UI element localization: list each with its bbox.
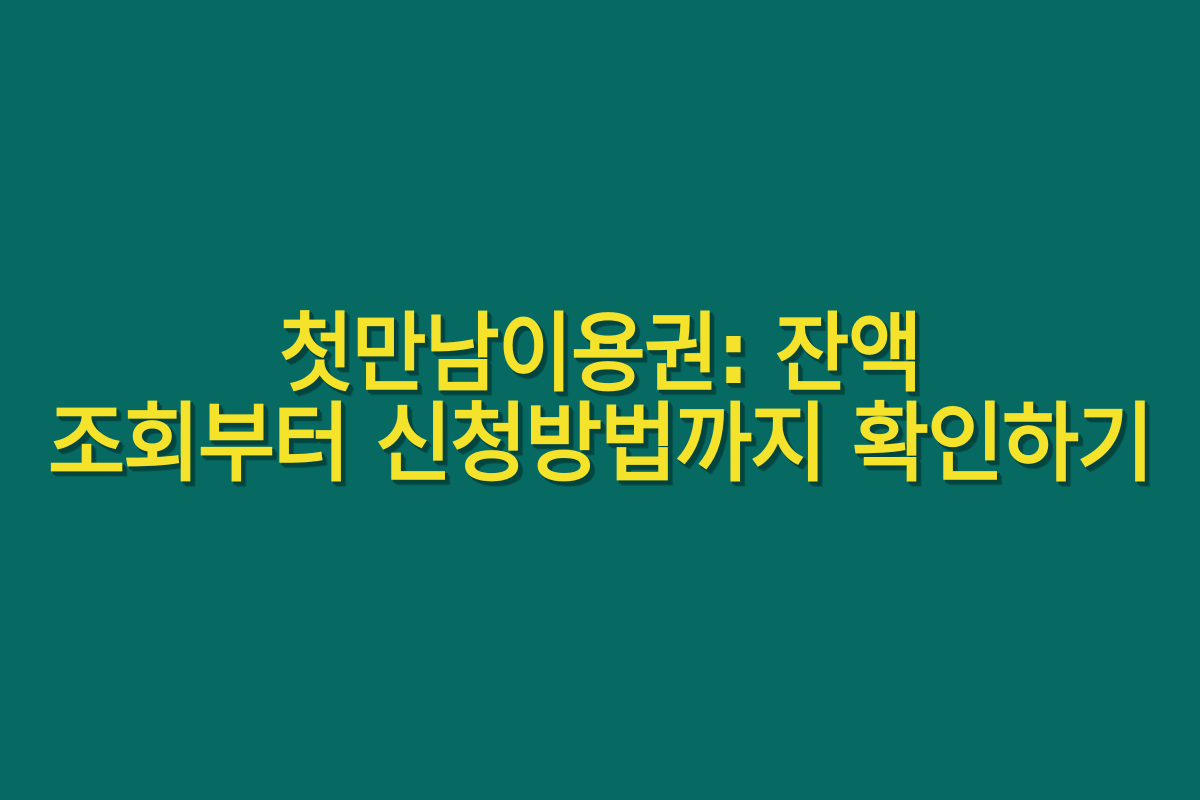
headline-line-2: 조회부터 신청방법까지 확인하기 xyxy=(21,399,1179,489)
headline-line-1: 첫만남이용권: 잔액 xyxy=(41,309,1159,399)
banner-background: 첫만남이용권: 잔액 조회부터 신청방법까지 확인하기 xyxy=(0,0,1200,800)
headline-block: 첫만남이용권: 잔액 조회부터 신청방법까지 확인하기 xyxy=(0,309,1200,489)
